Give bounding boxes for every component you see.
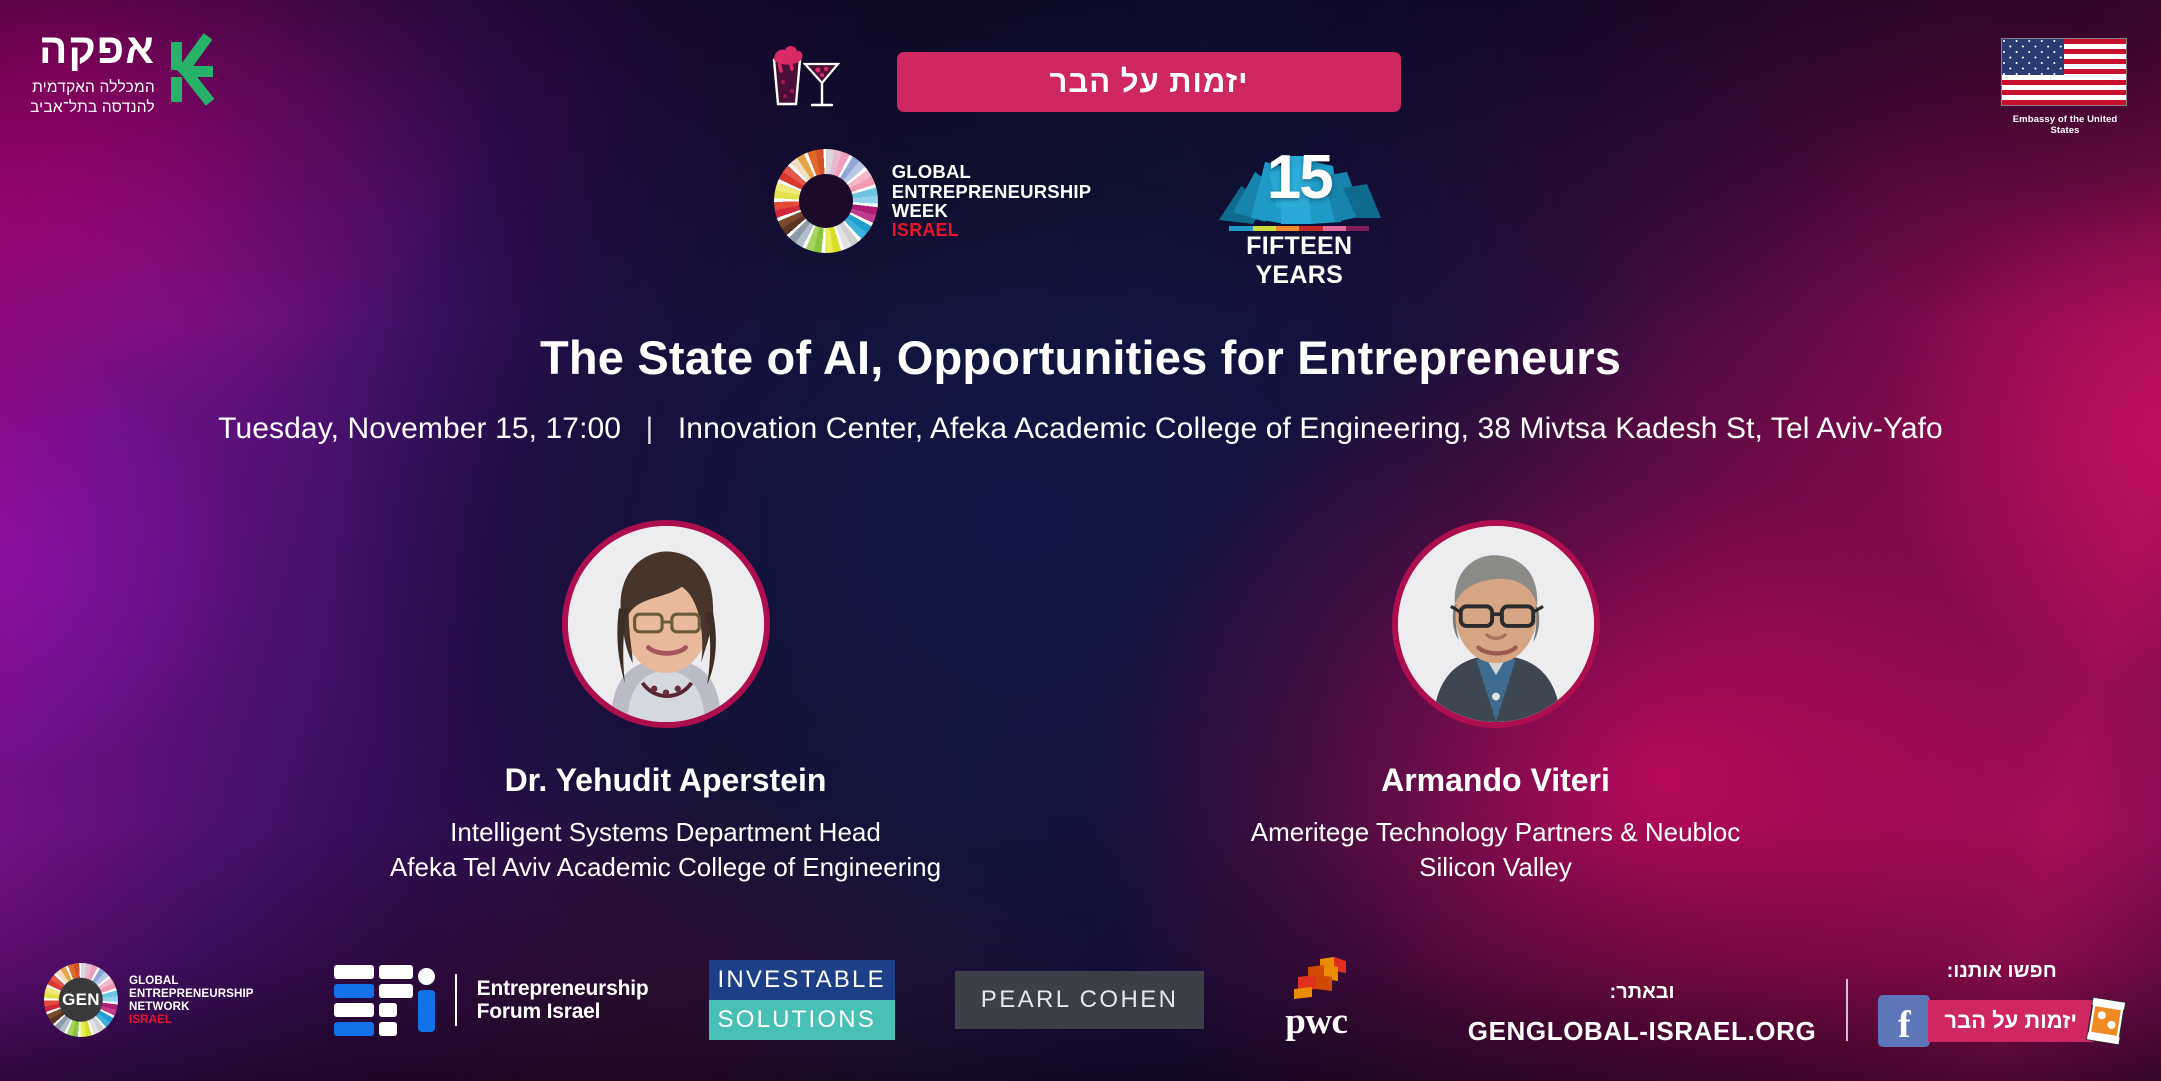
speaker-portrait-yehudit (562, 520, 770, 728)
pearl-cohen-logo: PEARL COHEN (955, 971, 1205, 1029)
partner-logo-row: GLOBAL ENTREPRENEURSHIP WEEK ISRAEL (0, 146, 2161, 256)
speaker-card: Armando Viteri Ameritege Technology Part… (1186, 520, 1806, 884)
gen-logo-text: GLOBAL ENTREPRENEURSHIP NETWORK ISRAEL (129, 974, 254, 1026)
gew-line-israel: ISRAEL (892, 221, 1092, 240)
afeka-k-mark-icon (169, 32, 227, 110)
fifteen-years-color-bar (1229, 226, 1369, 231)
efi-logo: Entrepreneurship Forum Israel (334, 965, 649, 1036)
speaker-portrait-armando (1392, 520, 1600, 728)
gew-line-week: WEEK (892, 201, 1092, 220)
event-venue: Innovation Center, Afeka Academic Colleg… (678, 412, 1943, 445)
social-label: חפשו אותנו: (1878, 960, 2125, 983)
fifteen-years-number: 15 (1211, 144, 1387, 212)
cta-divider (1846, 979, 1848, 1041)
speaker-role-line1: Intelligent Systems Department Head (356, 815, 976, 850)
website-url[interactable]: GENGLOBAL-ISRAEL.ORG (1468, 1016, 1817, 1047)
gew-line-global: GLOBAL (892, 162, 1092, 181)
afeka-logo-subtitle: המכללה האקדמית להנדסה בתל־אביב (30, 78, 155, 119)
us-flag-icon (2001, 38, 2127, 106)
event-series-banner: יזמות על הבר (897, 52, 1401, 112)
us-embassy-caption: Embassy of the United States (2001, 114, 2129, 136)
speaker-role: Intelligent Systems Department Head Afek… (356, 815, 976, 884)
website-label: ובאתר: (1468, 981, 1817, 1004)
efi-monogram-icon (334, 965, 435, 1036)
beer-glass-icon (2084, 995, 2129, 1046)
call-to-action-strip: ובאתר: GENGLOBAL-ISRAEL.ORG חפשו אותנו: … (1468, 960, 2125, 1047)
fifteen-years-label: FIFTEEN YEARS (1211, 232, 1387, 290)
cocktail-glasses-icon (752, 38, 844, 110)
afeka-logo: אפקה המכללה האקדמית להנדסה בתל־אביב (30, 28, 227, 119)
speaker-role-line1: Ameritege Technology Partners & Neubloc (1186, 815, 1806, 850)
event-details-line: Tuesday, November 15, 17:00 | Innovation… (0, 412, 2161, 446)
gen-line-global: GLOBAL (129, 974, 254, 987)
event-series-banner-text: יזמות על הבר (1050, 64, 1249, 100)
gew-israel-logo: GLOBAL ENTREPRENEURSHIP WEEK ISRAEL (774, 149, 1092, 253)
efi-logo-text: Entrepreneurship Forum Israel (477, 977, 649, 1023)
efi-divider (455, 974, 457, 1026)
gen-line-israel: ISRAEL (129, 1013, 254, 1026)
poster-content: אפקה המכללה האקדמית להנדסה בתל־אביב (0, 0, 2161, 1081)
facebook-icon[interactable]: f (1878, 995, 1930, 1047)
speaker-name: Dr. Yehudit Aperstein (356, 762, 976, 799)
pwc-wordmark: pwc (1264, 1000, 1368, 1043)
investable-line1: INVESTABLE (709, 960, 895, 1000)
pwc-mark-icon (1290, 957, 1352, 1001)
gen-israel-logo: GEN GLOBAL ENTREPRENEURSHIP NETWORK ISRA… (44, 963, 254, 1037)
facebook-link[interactable]: f יזמות על הבר (1878, 995, 2125, 1047)
afeka-subtitle-line1: המכללה האקדמית (30, 78, 155, 98)
event-poster: אפקה המכללה האקדמית להנדסה בתל־אביב (0, 0, 2161, 1081)
gew-logo-text: GLOBAL ENTREPRENEURSHIP WEEK ISRAEL (892, 162, 1092, 239)
fifteen-years-badge: 15 FIFTEEN YEARS (1211, 146, 1387, 256)
afeka-logo-text: אפקה המכללה האקדמית להנדסה בתל־אביב (30, 28, 155, 119)
event-datetime: Tuesday, November 15, 17:00 (218, 412, 621, 445)
speaker-role: Ameritege Technology Partners & Neubloc … (1186, 815, 1806, 884)
investable-solutions-logo: INVESTABLE SOLUTIONS (709, 960, 895, 1040)
facebook-page-name[interactable]: יזמות על הבר (1928, 1000, 2093, 1042)
gen-line-network: NETWORK (129, 1000, 254, 1013)
us-embassy-logo: Embassy of the United States (2001, 38, 2129, 136)
gew-color-ring-icon (774, 149, 878, 253)
speaker-role-line2: Silicon Valley (1186, 850, 1806, 885)
gen-color-ring-icon: GEN (44, 963, 118, 1037)
afeka-subtitle-line2: להנדסה בתל־אביב (30, 98, 155, 118)
page-title: The State of AI, Opportunities for Entre… (0, 330, 2161, 385)
social-block: חפשו אותנו: f יזמות על הבר (1878, 960, 2125, 1047)
investable-line2: SOLUTIONS (709, 1000, 895, 1040)
efi-line2: Forum Israel (477, 1000, 649, 1023)
speaker-name: Armando Viteri (1186, 762, 1806, 799)
gen-line-entrepreneurship: ENTREPRENEURSHIP (129, 987, 254, 1000)
detail-separator: | (646, 412, 654, 446)
efi-line1: Entrepreneurship (477, 977, 649, 1000)
speakers-section: Dr. Yehudit Aperstein Intelligent System… (0, 520, 2161, 884)
gew-line-entrepreneurship: ENTREPRENEURSHIP (892, 182, 1092, 201)
afeka-logo-name: אפקה (30, 28, 155, 70)
speaker-role-line2: Afeka Tel Aviv Academic College of Engin… (356, 850, 976, 885)
sponsor-logo-strip: GEN GLOBAL ENTREPRENEURSHIP NETWORK ISRA… (44, 957, 1368, 1043)
speaker-card: Dr. Yehudit Aperstein Intelligent System… (356, 520, 976, 884)
website-block: ובאתר: GENGLOBAL-ISRAEL.ORG (1468, 981, 1817, 1047)
pwc-logo: pwc (1264, 957, 1368, 1043)
